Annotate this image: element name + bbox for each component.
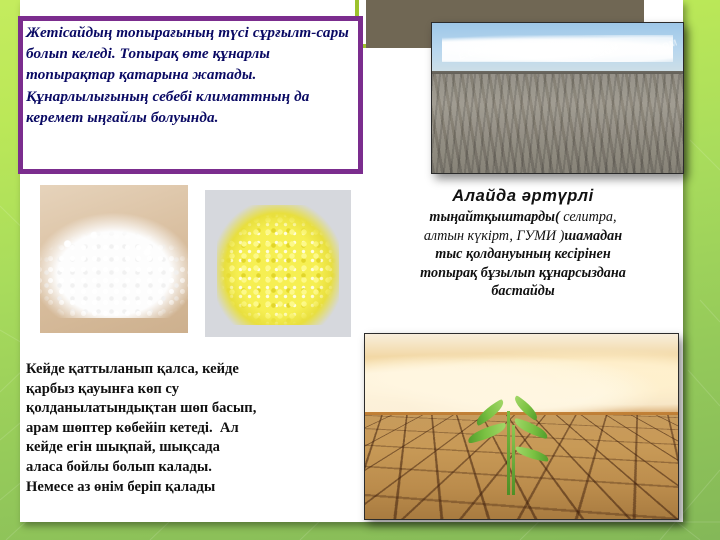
body-text-left: Кейде қаттыланып қалса, кейде қарбыз қау…: [26, 360, 346, 497]
leaf: [512, 417, 550, 439]
caption-line-1-thin: селитра,: [563, 209, 616, 225]
caption-line-1: тыңайтқыштарды( селитра,: [378, 208, 668, 227]
presentation-slide: Жетісайдың топырағының түсі сұрғылт-сары…: [0, 0, 720, 540]
caption-right: Алайда әртүрлі тыңайтқыштарды( селитра, …: [378, 186, 668, 301]
body-line: арам шөптер көбейіп кетеді. Ал: [26, 419, 346, 439]
body-line: қарбыз қауынға көп су: [26, 380, 346, 400]
granule-texture: [40, 209, 188, 322]
photo-white-saltpeter: [40, 185, 188, 333]
leaf: [514, 446, 549, 462]
body-line: Немесе аз өнім беріп қалады: [26, 478, 346, 498]
caption-line-2-thin: алтын күкірт, ГУМИ ): [424, 228, 565, 244]
caption-line-3: тыс қолдануының кесірінен: [378, 245, 668, 264]
photo-ploughed-field: E.COM E.COM E.COM E.COM: [431, 22, 684, 174]
photo-ground: [432, 74, 683, 173]
caption-line-5: бастайды: [378, 282, 668, 301]
leaf: [473, 398, 508, 425]
caption-line-2-bold: шамадан: [564, 228, 622, 244]
photo-yellow-sulfur: [205, 190, 351, 337]
green-sprout-icon: [467, 401, 551, 497]
sulfur-texture: [214, 202, 343, 328]
body-line: кейде егін шықпай, шықсада: [26, 438, 346, 458]
sprout-stem: [512, 425, 515, 495]
caption-line-2: алтын күкірт, ГУМИ )шамадан: [378, 227, 668, 246]
caption-heading: Алайда әртүрлі: [378, 186, 668, 207]
body-line: Кейде қаттыланып қалса, кейде: [26, 360, 346, 380]
sprout-stem: [507, 411, 510, 495]
leaf: [466, 422, 508, 443]
caption-line-1-bold: тыңайтқыштарды(: [429, 209, 559, 225]
photo-cracked-earth: [364, 333, 679, 520]
caption-line-4: топырақ бұзылып құнарсыздана: [378, 264, 668, 283]
body-line: қолданылатындықтан шөп басып,: [26, 399, 346, 419]
caption-body: тыңайтқыштарды( селитра, алтын күкірт, Г…: [378, 208, 668, 301]
intro-text: Жетісайдың топырағының түсі сұрғылт-сары…: [26, 22, 358, 128]
body-line: аласа бойлы болып калады.: [26, 458, 346, 478]
